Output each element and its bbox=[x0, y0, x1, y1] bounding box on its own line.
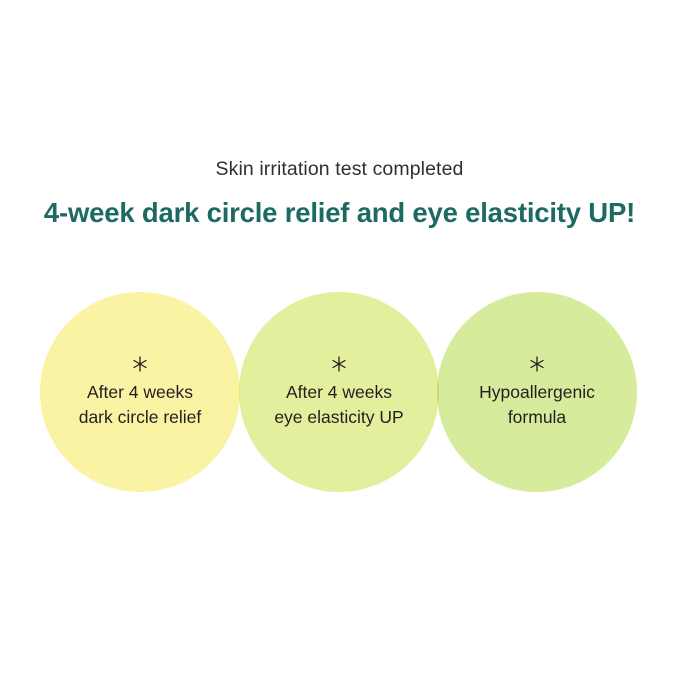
venn-label-line: formula bbox=[508, 405, 566, 430]
venn-label-line: Hypoallergenic bbox=[479, 380, 595, 405]
venn-label-line: eye elasticity UP bbox=[274, 405, 403, 430]
page-title: 4-week dark circle relief and eye elasti… bbox=[0, 195, 679, 231]
venn-label-line: dark circle relief bbox=[79, 405, 202, 430]
asterisk-icon bbox=[130, 354, 150, 374]
eyebrow-text: Skin irritation test completed bbox=[0, 155, 679, 183]
venn-labels: After 4 weeks dark circle relief After 4… bbox=[0, 292, 679, 494]
header-block: Skin irritation test completed 4-week da… bbox=[0, 155, 679, 231]
venn-label-line: After 4 weeks bbox=[87, 380, 193, 405]
venn-label-line: After 4 weeks bbox=[286, 380, 392, 405]
venn-label-dark-circle-relief: After 4 weeks dark circle relief bbox=[40, 292, 240, 492]
asterisk-icon bbox=[329, 354, 349, 374]
venn-diagram: After 4 weeks dark circle relief After 4… bbox=[0, 292, 679, 494]
venn-label-eye-elasticity: After 4 weeks eye elasticity UP bbox=[239, 292, 439, 492]
asterisk-icon bbox=[527, 354, 547, 374]
venn-label-hypoallergenic: Hypoallergenic formula bbox=[437, 292, 637, 492]
promo-banner: Skin irritation test completed 4-week da… bbox=[0, 0, 679, 679]
